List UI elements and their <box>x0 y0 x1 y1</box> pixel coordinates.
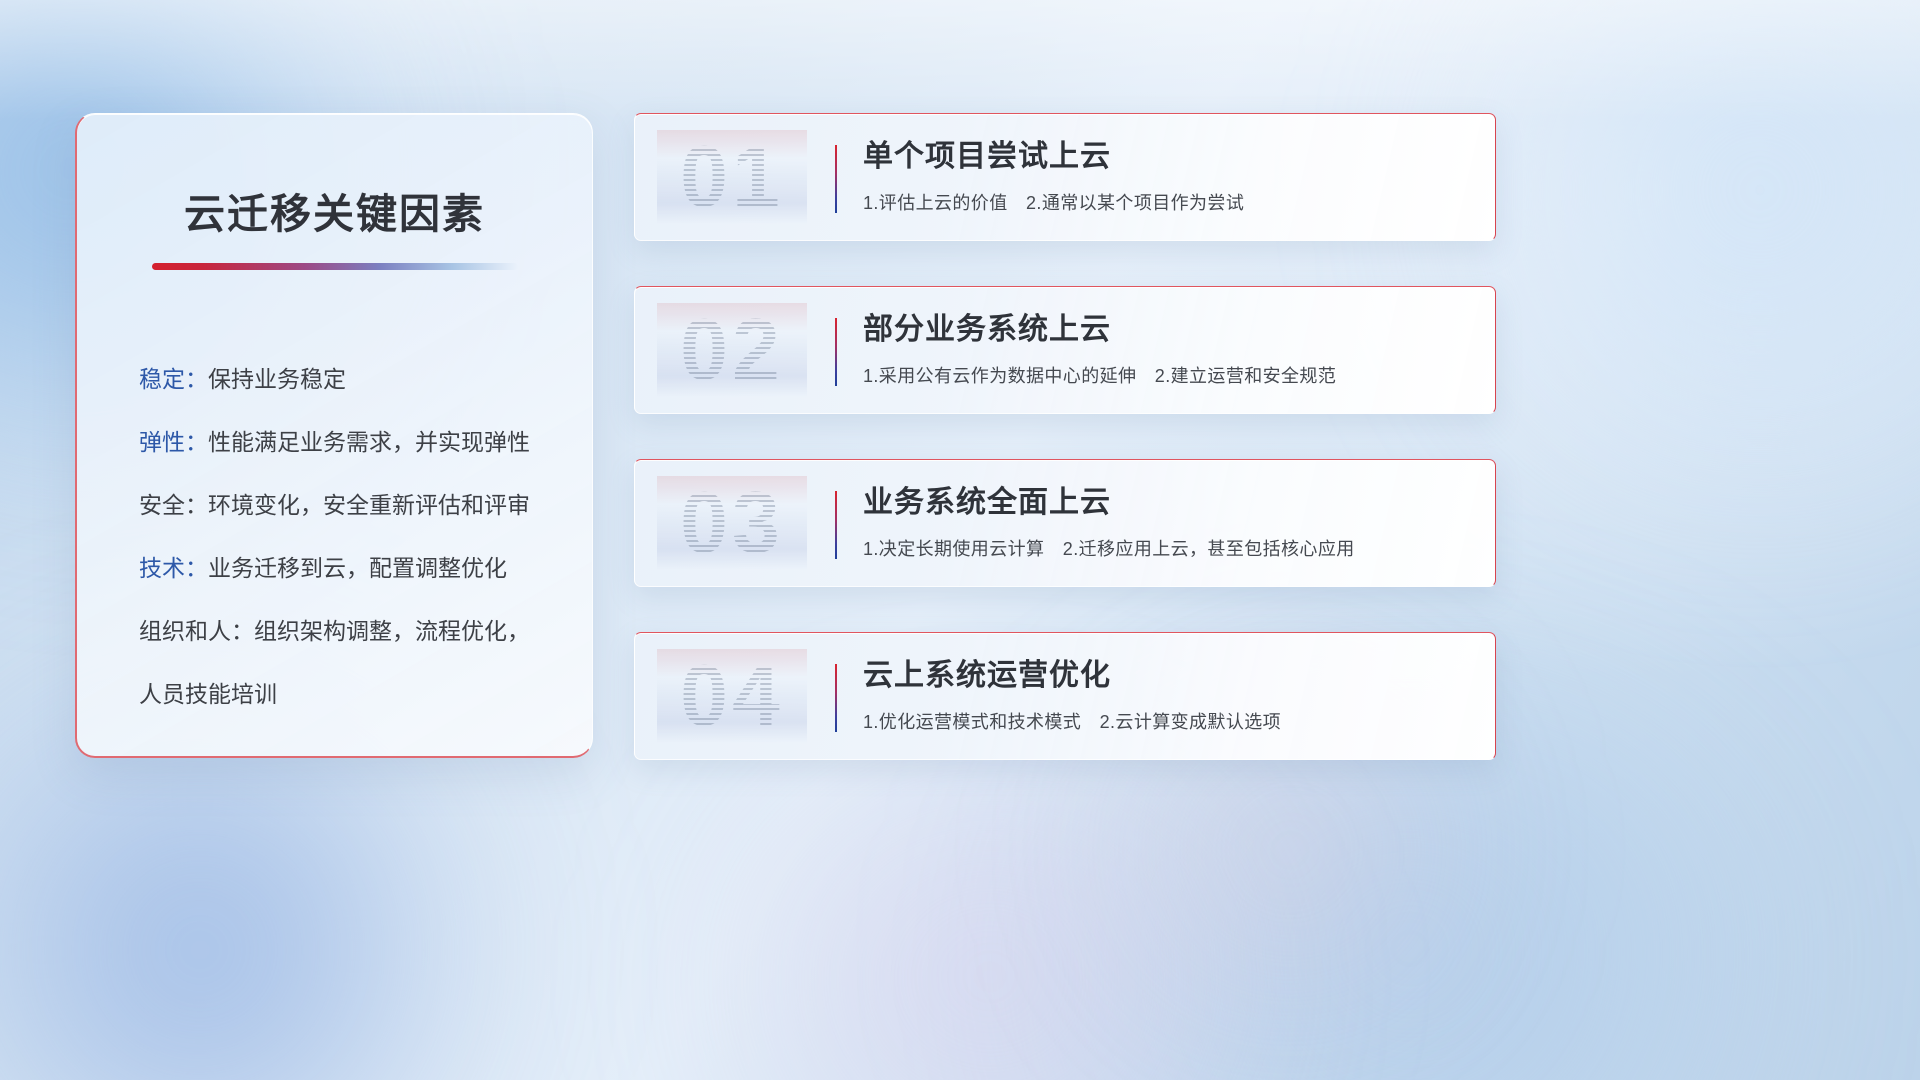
stage-title: 部分业务系统上云 <box>863 311 1477 349</box>
stage-number: 04 <box>657 653 807 739</box>
factor-item: 弹性：性能满足业务需求，并实现弹性 <box>139 411 558 474</box>
stage-description: 1.采用公有云作为数据中心的延伸 2.建立运营和安全规范 <box>863 362 1477 388</box>
factor-list: 稳定：保持业务稳定 弹性：性能满足业务需求，并实现弹性 安全：环境变化，安全重新… <box>111 348 558 726</box>
stage-number: 02 <box>657 307 807 393</box>
key-factors-panel: 云迁移关键因素 稳定：保持业务稳定 弹性：性能满足业务需求，并实现弹性 安全：环… <box>75 113 593 758</box>
stage-description: 1.优化运营模式和技术模式 2.云计算变成默认选项 <box>863 708 1477 734</box>
factor-label: 安全： <box>139 492 208 518</box>
stage-text-block: 部分业务系统上云 1.采用公有云作为数据中心的延伸 2.建立运营和安全规范 <box>863 311 1477 388</box>
factor-item: 稳定：保持业务稳定 <box>139 348 558 411</box>
background-top-wash <box>0 0 1920 120</box>
stage-divider <box>835 664 837 732</box>
factor-value: 业务迁移到云，配置调整优化 <box>208 555 507 581</box>
stage-divider <box>835 145 837 213</box>
stage-card[interactable]: 01 单个项目尝试上云 1.评估上云的价值 2.通常以某个项目作为尝试 <box>634 113 1496 241</box>
factor-label: 组织和人： <box>139 618 254 644</box>
factor-item: 安全：环境变化，安全重新评估和评审 <box>139 474 558 537</box>
stage-text-block: 业务系统全面上云 1.决定长期使用云计算 2.迁移应用上云，甚至包括核心应用 <box>863 484 1477 561</box>
migration-stage-list: 01 单个项目尝试上云 1.评估上云的价值 2.通常以某个项目作为尝试 02 部… <box>634 113 1496 760</box>
factor-value: 性能满足业务需求，并实现弹性 <box>208 429 530 455</box>
factor-item: 组织和人：组织架构调整，流程优化， <box>139 600 558 663</box>
stage-title: 云上系统运营优化 <box>863 657 1477 695</box>
factor-item-continuation: 人员技能培训 <box>139 663 558 726</box>
factor-value: 保持业务稳定 <box>208 366 346 392</box>
factor-item: 技术：业务迁移到云，配置调整优化 <box>139 537 558 600</box>
stage-number: 03 <box>657 480 807 566</box>
stage-text-block: 单个项目尝试上云 1.评估上云的价值 2.通常以某个项目作为尝试 <box>863 138 1477 215</box>
stage-card[interactable]: 04 云上系统运营优化 1.优化运营模式和技术模式 2.云计算变成默认选项 <box>634 632 1496 760</box>
title-underline-gradient <box>152 263 518 270</box>
factor-label: 弹性： <box>139 429 208 455</box>
stage-number: 01 <box>657 134 807 220</box>
stage-divider <box>835 491 837 559</box>
stage-card[interactable]: 02 部分业务系统上云 1.采用公有云作为数据中心的延伸 2.建立运营和安全规范 <box>634 286 1496 414</box>
stage-title: 业务系统全面上云 <box>863 484 1477 522</box>
stage-divider <box>835 318 837 386</box>
stage-text-block: 云上系统运营优化 1.优化运营模式和技术模式 2.云计算变成默认选项 <box>863 657 1477 734</box>
stage-title: 单个项目尝试上云 <box>863 138 1477 176</box>
key-factors-panel-inner: 云迁移关键因素 稳定：保持业务稳定 弹性：性能满足业务需求，并实现弹性 安全：环… <box>77 114 592 756</box>
factor-value: 环境变化，安全重新评估和评审 <box>208 492 530 518</box>
factor-value: 组织架构调整，流程优化， <box>254 618 530 644</box>
stage-description: 1.评估上云的价值 2.通常以某个项目作为尝试 <box>863 189 1477 215</box>
factor-label: 稳定： <box>139 366 208 392</box>
factor-label: 技术： <box>139 555 208 581</box>
stage-description: 1.决定长期使用云计算 2.迁移应用上云，甚至包括核心应用 <box>863 535 1477 561</box>
page-title: 云迁移关键因素 <box>111 180 558 240</box>
stage-card[interactable]: 03 业务系统全面上云 1.决定长期使用云计算 2.迁移应用上云，甚至包括核心应… <box>634 459 1496 587</box>
factor-value: 人员技能培训 <box>139 681 277 707</box>
